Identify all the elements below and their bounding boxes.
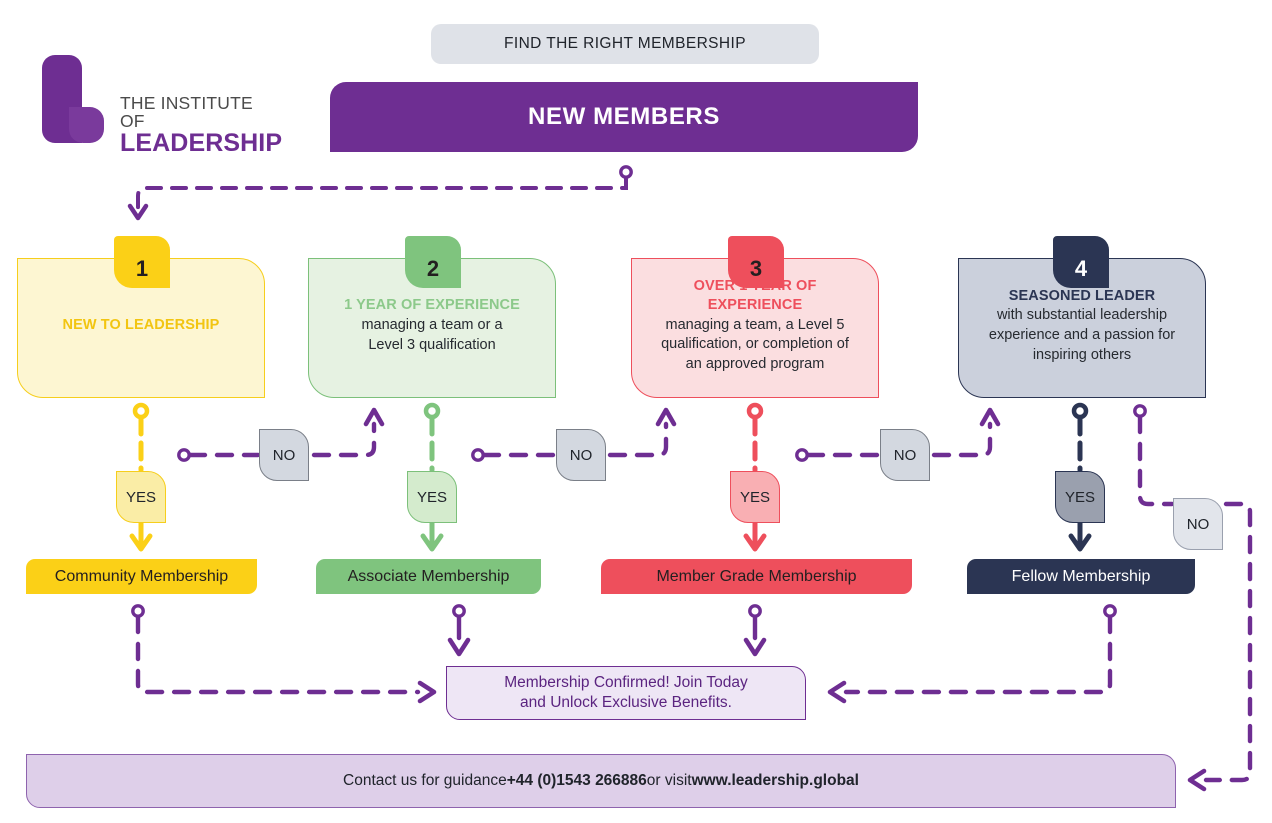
logo-dot-shape bbox=[69, 107, 104, 143]
criteria-card-4-subtitle: with substantial leadership experience a… bbox=[989, 306, 1175, 365]
top-loop-connector bbox=[130, 167, 631, 218]
logo-wordmark: THE INSTITUTE OF LEADERSHIP bbox=[120, 95, 282, 156]
criteria-card-3-subtitle: managing a team, a Level 5 qualification… bbox=[661, 316, 849, 375]
yes-chip-2[interactable]: YES bbox=[407, 471, 457, 523]
membership-bar-associate[interactable]: Associate Membership bbox=[316, 559, 541, 594]
criteria-card-2-subtitle: managing a team or a Level 3 qualificati… bbox=[361, 316, 502, 355]
criteria-card-4-title: SEASONED LEADER bbox=[1009, 287, 1156, 306]
contact-bar: Contact us for guidance +44 (0)1543 2668… bbox=[26, 754, 1176, 808]
membership-bar-community[interactable]: Community Membership bbox=[26, 559, 257, 594]
membership1-confirm-connector bbox=[133, 606, 434, 701]
logo-mark-icon bbox=[42, 55, 104, 143]
contact-phone[interactable]: +44 (0)1543 266886 bbox=[507, 772, 647, 790]
institute-of-leadership-logo: THE INSTITUTE OF LEADERSHIP bbox=[42, 55, 282, 150]
yes-chip-1[interactable]: YES bbox=[116, 471, 166, 523]
eyebrow-label: FIND THE RIGHT MEMBERSHIP bbox=[431, 24, 819, 64]
no-chip-3[interactable]: NO bbox=[880, 429, 930, 481]
no-chip-1[interactable]: NO bbox=[259, 429, 309, 481]
logo-line-2: LEADERSHIP bbox=[120, 131, 282, 157]
confirm-line-1: Membership Confirmed! Join Today bbox=[504, 673, 748, 693]
membership-bar-member-grade[interactable]: Member Grade Membership bbox=[601, 559, 912, 594]
membership3-confirm-connector bbox=[746, 606, 764, 654]
logo-line-1: THE INSTITUTE OF bbox=[120, 95, 282, 131]
yes-chip-4[interactable]: YES bbox=[1055, 471, 1105, 523]
contact-website[interactable]: www.leadership.global bbox=[692, 772, 859, 790]
no4-connector bbox=[1135, 406, 1250, 789]
yes-chip-3[interactable]: YES bbox=[730, 471, 780, 523]
criteria-card-2-number-badge: 2 bbox=[405, 236, 461, 288]
page-title: NEW MEMBERS bbox=[330, 82, 918, 152]
confirm-line-2: and Unlock Exclusive Benefits. bbox=[504, 693, 748, 713]
membership4-confirm-connector bbox=[830, 606, 1115, 701]
criteria-card-1-title: NEW TO LEADERSHIP bbox=[63, 316, 220, 335]
membership-bar-fellow[interactable]: Fellow Membership bbox=[967, 559, 1195, 594]
no-chip-4[interactable]: NO bbox=[1173, 498, 1223, 550]
criteria-card-3-number-badge: 3 bbox=[728, 236, 784, 288]
criteria-card-2-title: 1 YEAR OF EXPERIENCE bbox=[344, 296, 520, 315]
no-chip-2[interactable]: NO bbox=[556, 429, 606, 481]
flowchart-canvas: THE INSTITUTE OF LEADERSHIP FIND THE RIG… bbox=[0, 0, 1272, 823]
criteria-card-1-number-badge: 1 bbox=[114, 236, 170, 288]
membership-confirmed-box: Membership Confirmed! Join Today and Unl… bbox=[446, 666, 806, 720]
criteria-card-4-number-badge: 4 bbox=[1053, 236, 1109, 288]
contact-middle: or visit bbox=[647, 772, 692, 790]
membership2-confirm-connector bbox=[450, 606, 468, 654]
contact-prefix: Contact us for guidance bbox=[343, 772, 507, 790]
